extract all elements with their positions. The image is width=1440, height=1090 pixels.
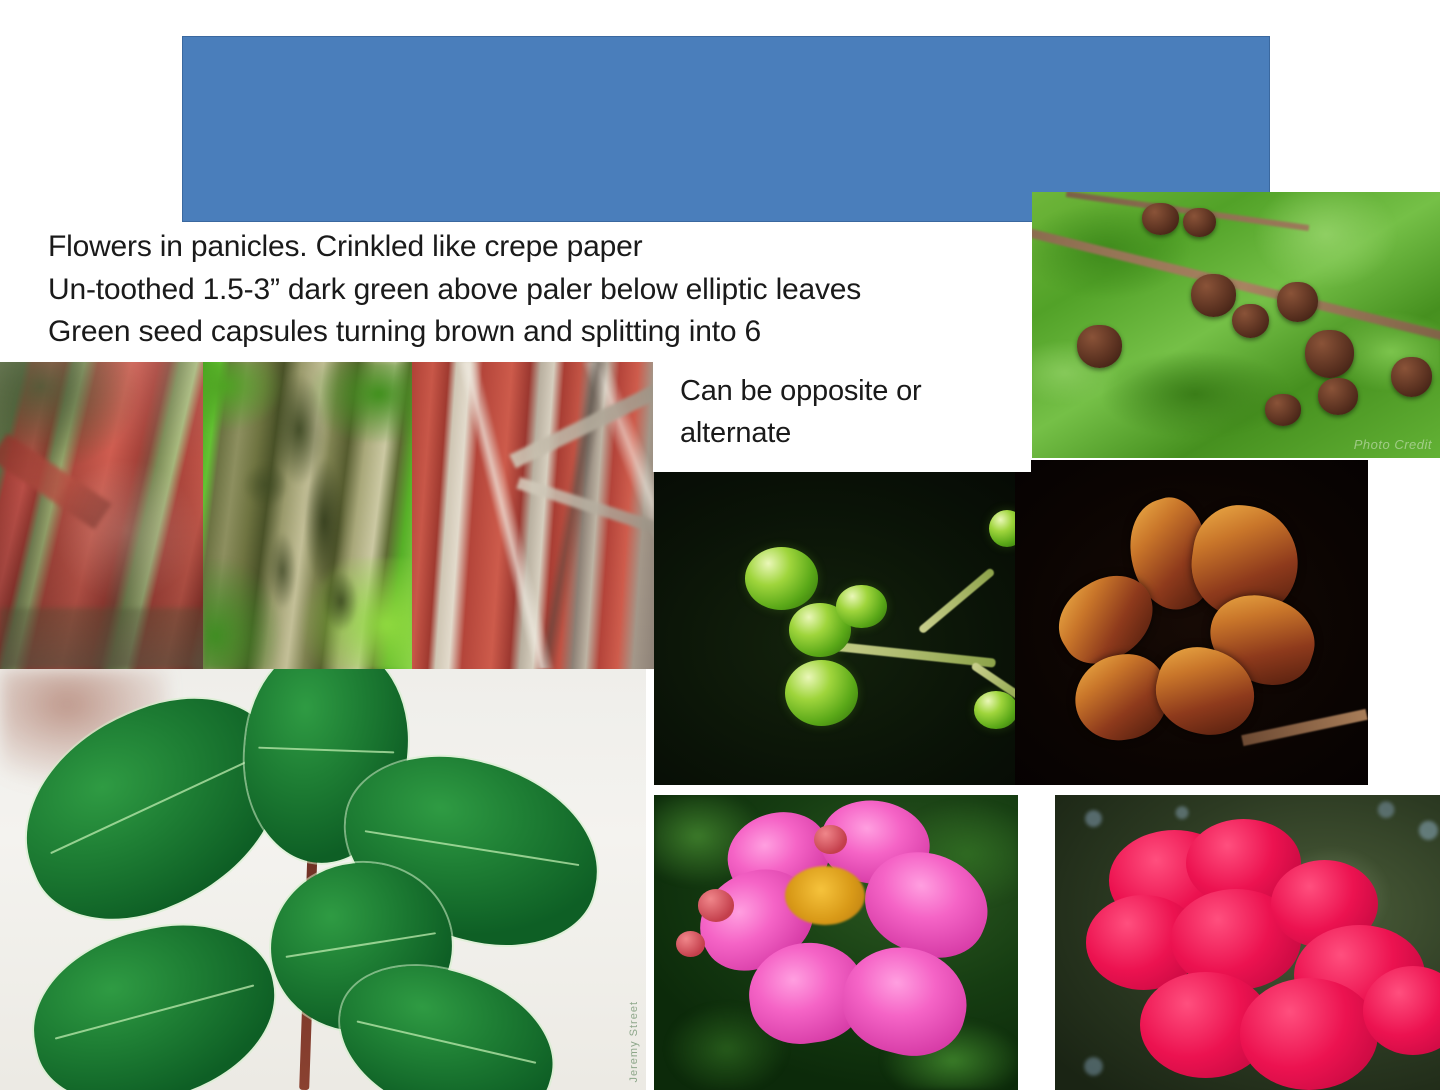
leaf <box>17 906 292 1090</box>
photo-watermark: Photo Credit <box>1354 437 1432 452</box>
green-seed-capsule <box>785 660 858 726</box>
green-seed-capsule <box>836 585 887 629</box>
green-seed-capsule <box>989 510 1018 548</box>
photo-olive-bark <box>203 362 412 669</box>
bark-mottling <box>203 362 412 669</box>
seed-pod <box>1077 325 1122 368</box>
flower-bud <box>676 931 705 958</box>
seed-pod <box>1277 282 1318 322</box>
flower-center <box>785 866 865 925</box>
green-seed-capsule <box>974 691 1018 729</box>
photo-split-seed-capsule <box>1015 460 1368 785</box>
photo-green-seed-capsules <box>654 472 1018 785</box>
leaf-arrangement-note: Can be opposite or alternate <box>680 370 1010 454</box>
seed-pod <box>1183 208 1216 237</box>
capsule-stalk <box>1241 709 1368 746</box>
seed-pod <box>1265 394 1302 426</box>
seed-pod <box>1191 274 1236 317</box>
bark-shading <box>0 362 203 669</box>
description-line-1: Flowers in panicles. Crinkled like crepe… <box>48 226 861 269</box>
photo-leaves-closeup: Jeremy Street <box>0 669 646 1090</box>
photo-watermark: Jeremy Street <box>628 1001 640 1082</box>
photo-exfoliating-bark <box>412 362 654 669</box>
seed-pod <box>1142 203 1179 235</box>
capsule-stem <box>917 568 994 635</box>
photo-brown-seed-capsules-leaves <box>1032 192 1440 458</box>
description-text: Flowers in panicles. Crinkled like crepe… <box>48 222 871 358</box>
photo-pink-flower <box>654 795 1018 1090</box>
slide-canvas: Photo Credit Flowers in panicles. Crinkl… <box>0 0 1440 1090</box>
photo-red-bark <box>0 362 203 669</box>
seed-pod <box>1391 357 1432 397</box>
flower-bud <box>814 825 847 855</box>
photo-brown-seed-capsules: Photo Credit <box>1032 192 1440 458</box>
floret <box>1240 978 1379 1090</box>
green-seed-capsule <box>745 547 818 610</box>
flower-bud <box>698 889 734 921</box>
description-line-3: Green seed capsules turning brown and sp… <box>48 311 861 354</box>
photo-red-flower-panicle <box>1055 795 1440 1090</box>
description-line-2: Un-toothed 1.5-3” dark green above paler… <box>48 269 861 312</box>
seed-pod <box>1232 304 1269 339</box>
